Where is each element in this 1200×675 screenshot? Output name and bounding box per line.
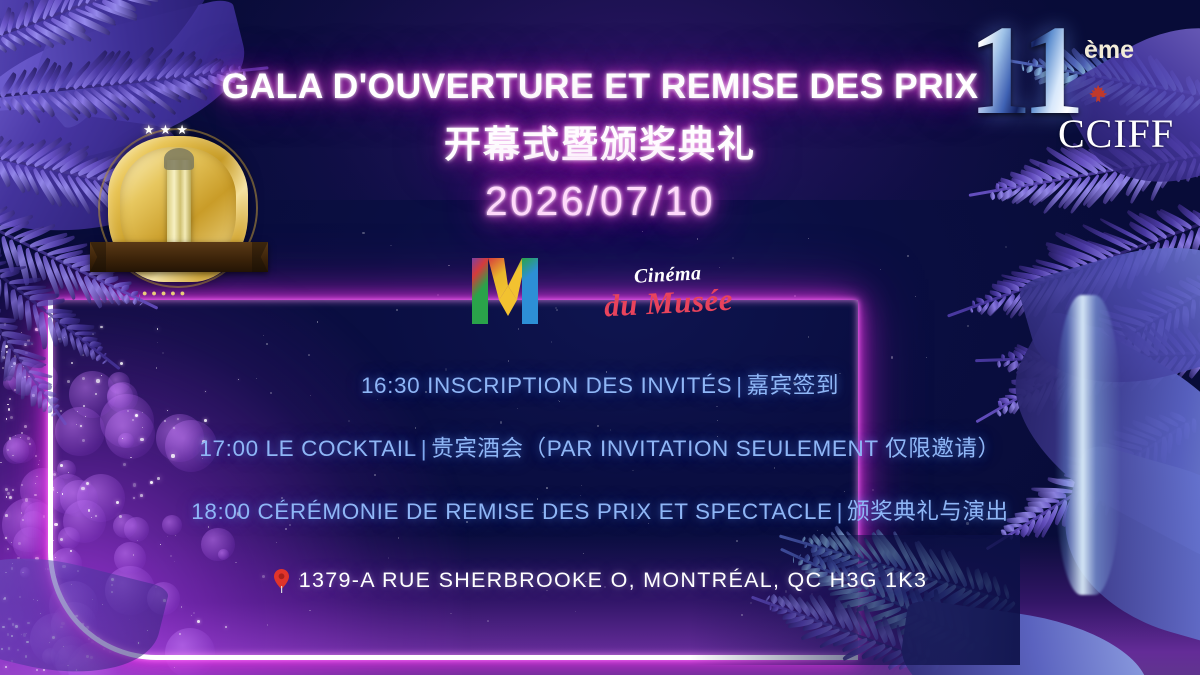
schedule-label-cn-1: 贵宾酒会: [431, 436, 523, 461]
schedule-item-2: 18:00 CÉRÉMONIE DE REMISE DES PRIX ET SP…: [0, 494, 1200, 526]
title-french: GALA D'OUVERTURE ET REMISE DES PRIX: [0, 66, 1200, 107]
schedule-note-1: （PAR INVITATION SEULEMENT 仅限邀请）: [524, 436, 1001, 461]
address-text: 1379-A RUE SHERBROOKE O, MONTRÉAL, QC H3…: [299, 568, 927, 593]
venue-address: 1379-A RUE SHERBROOKE O, MONTRÉAL, QC H3…: [0, 568, 1200, 593]
schedule-separator-0: |: [732, 373, 746, 398]
schedule-item-1: 17:00 LE COCKTAIL|贵宾酒会（PAR INVITATION SE…: [0, 431, 1200, 463]
palm-leaf-blade: [1042, 441, 1200, 658]
title-block: GALA D'OUVERTURE ET REMISE DES PRIX: [0, 66, 1200, 107]
schedule-time-0: 16:30: [361, 373, 420, 398]
schedule-time-1: 17:00: [199, 436, 258, 461]
schedule-label-cn-0: 嘉宾签到: [747, 373, 839, 398]
schedule-label-cn-2: 颁奖典礼与演出: [847, 499, 1009, 524]
palm-frond: [0, 0, 225, 44]
schedule-label-fr-2: CÉRÉMONIE DE REMISE DES PRIX ET SPECTACL…: [257, 499, 832, 524]
schedule-separator-2: |: [833, 499, 847, 524]
cinema-du-musee-logo: Cinéma du Musée: [604, 265, 733, 318]
musee-m-logo: [468, 256, 542, 326]
palm-frond: [975, 350, 1200, 363]
sponsor-logos: Cinéma du Musée: [0, 256, 1200, 326]
schedule-time-2: 18:00: [191, 499, 250, 524]
cinema-logo-line2: du Musée: [603, 283, 733, 321]
neon-fade-mask: [690, 535, 1020, 665]
schedule-label-fr-1: LE COCKTAIL: [266, 436, 417, 461]
event-poster: ★★★ ●●●●● 11 ème CCIFF GALA D'OUVERTURE …: [0, 0, 1200, 675]
edition-suffix: ème: [1084, 36, 1134, 65]
event-date: 2026/07/10: [0, 178, 1200, 225]
schedule-separator-1: |: [417, 436, 431, 461]
schedule-label-fr-0: INSCRIPTION DES INVITÉS: [427, 373, 732, 398]
location-pin-icon: [273, 569, 290, 593]
title-chinese: 开幕式暨颁奖典礼: [0, 114, 1200, 168]
schedule-item-0: 16:30 INSCRIPTION DES INVITÉS|嘉宾签到: [0, 368, 1200, 400]
